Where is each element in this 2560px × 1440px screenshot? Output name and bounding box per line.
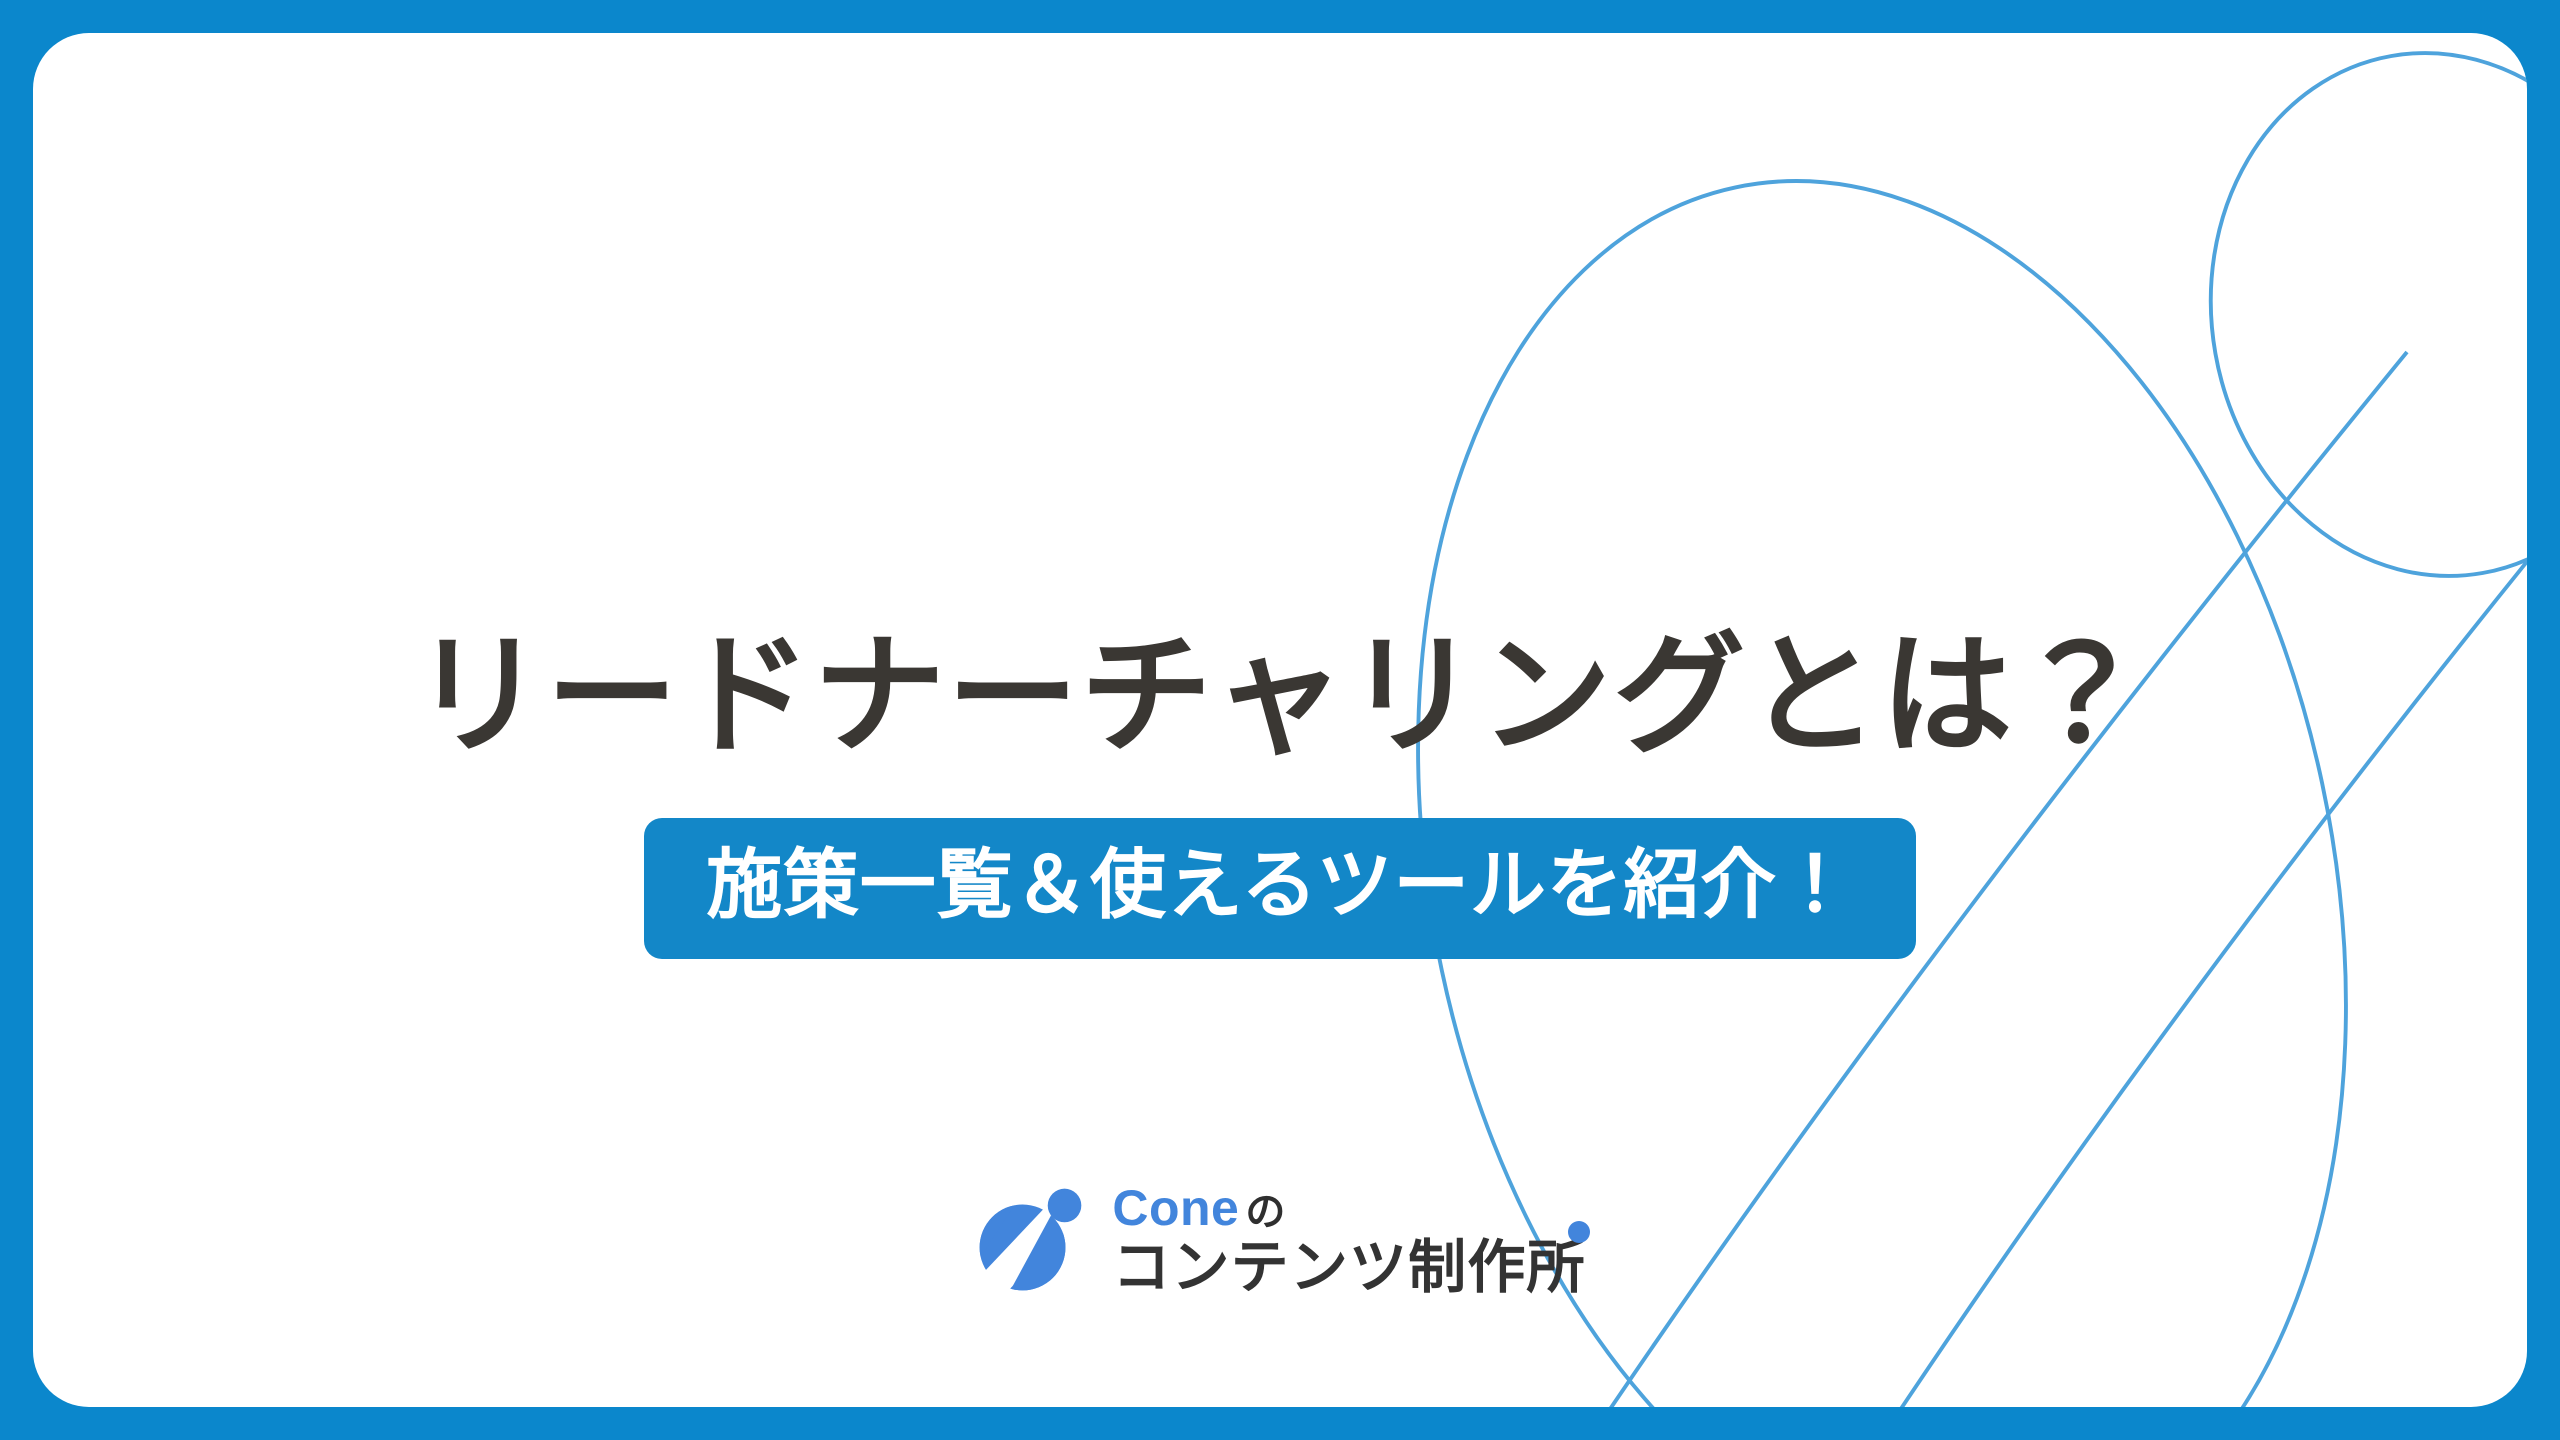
brand-name: Cone	[1112, 1183, 1239, 1233]
brand-tagline: コンテンツ制作所	[1112, 1239, 1585, 1297]
page-title: リードナーチャリングとは？	[33, 618, 2527, 774]
cone-dot-icon	[1568, 1221, 1590, 1243]
slide-canvas: リードナーチャリングとは？ 施策一覧＆使えるツールを紹介！	[0, 0, 2560, 1440]
subtitle-badge: 施策一覧＆使えるツールを紹介！	[644, 818, 1916, 959]
brand-tagline-text: コンテンツ制作所	[1112, 1235, 1585, 1300]
brand-logo-text: Cone の コンテンツ制作所	[1112, 1183, 1585, 1297]
cone-circle-slash-icon	[974, 1184, 1086, 1296]
slide-card: リードナーチャリングとは？ 施策一覧＆使えるツールを紹介！	[33, 33, 2527, 1407]
subtitle-badge-container: 施策一覧＆使えるツールを紹介！	[33, 818, 2527, 959]
brand-logo-line-1: Cone の	[1112, 1183, 1286, 1233]
brand-particle: の	[1245, 1192, 1286, 1232]
brand-logo: Cone の コンテンツ制作所	[33, 1183, 2527, 1297]
